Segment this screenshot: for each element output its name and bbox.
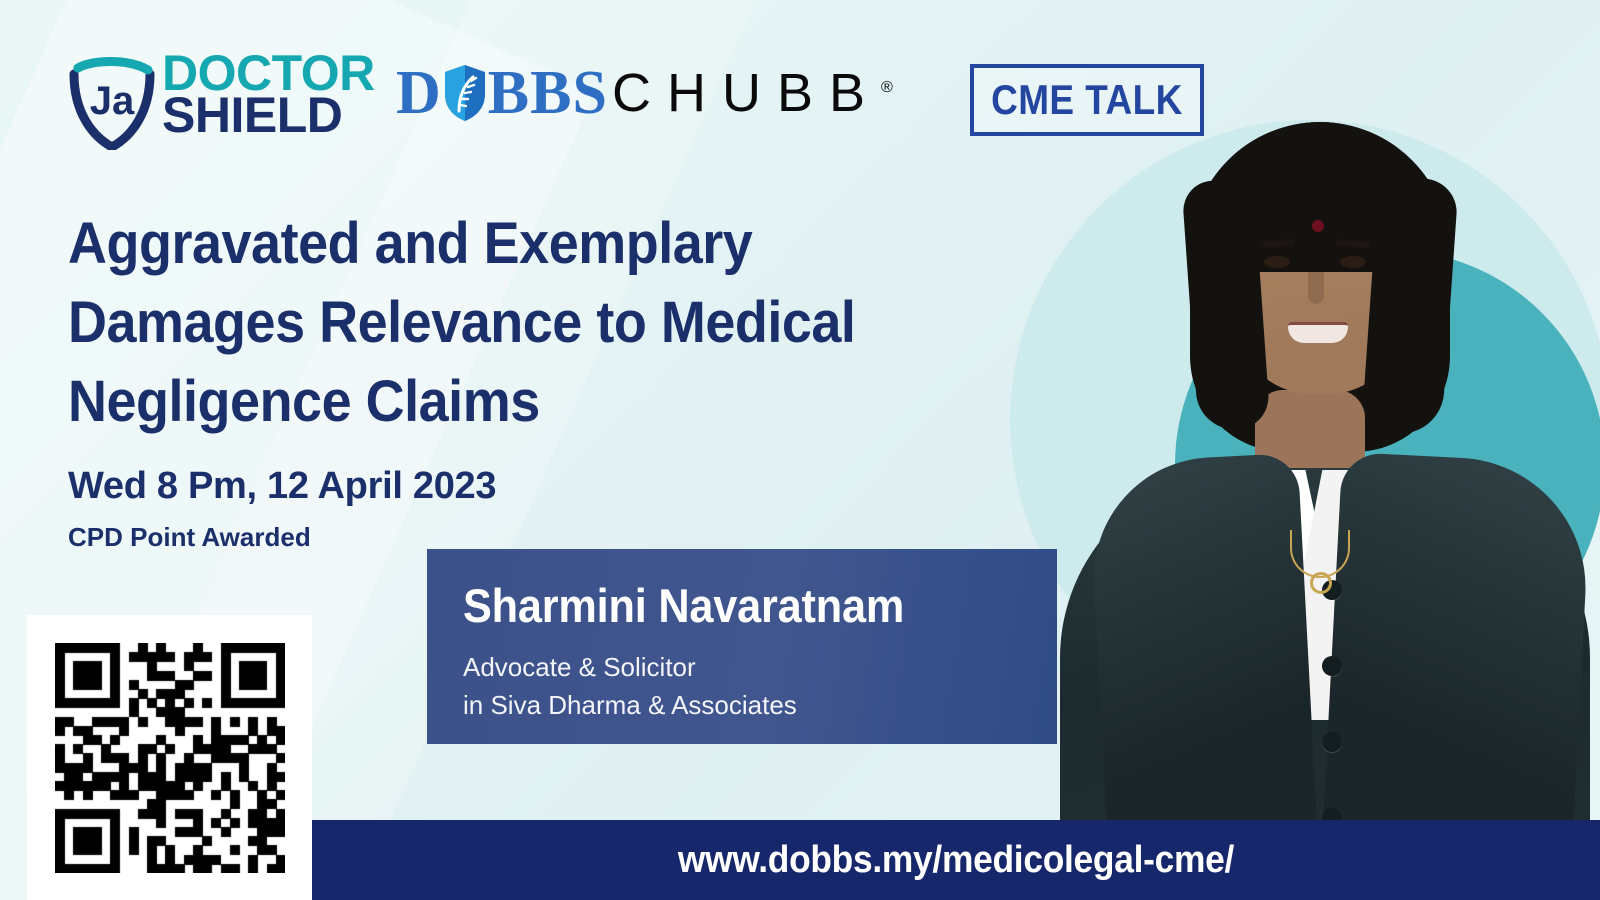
sponsor-logo-row: Ja DOCTOR SHIELD D xyxy=(0,0,1300,165)
speaker-role-line2: in Siva Dharma & Associates xyxy=(463,686,797,724)
doctor-shield-wordmark: DOCTOR SHIELD xyxy=(162,50,375,138)
chubb-trademark: ® xyxy=(881,79,893,96)
registration-url[interactable]: www.dobbs.my/medicolegal-cme/ xyxy=(357,820,1555,900)
speaker-role: Advocate & Solicitor in Siva Dharma & As… xyxy=(463,648,797,725)
svg-text:Ja: Ja xyxy=(90,79,135,123)
event-datetime: Wed 8 Pm, 12 April 2023 xyxy=(68,465,496,508)
promo-banner: Ja DOCTOR SHIELD D xyxy=(0,0,1600,900)
speaker-role-line1: Advocate & Solicitor xyxy=(463,648,797,686)
dobbs-shield-icon xyxy=(443,64,487,122)
cme-talk-label: CME TALK xyxy=(991,76,1183,124)
chubb-logo: CHUBB® xyxy=(612,66,893,120)
speaker-portrait xyxy=(1040,60,1600,900)
dobbs-letter-d: D xyxy=(396,62,442,124)
event-title: Aggravated and Exemplary Damages Relevan… xyxy=(68,205,905,442)
dobbs-letters-bbs: BBS xyxy=(488,62,608,124)
ja-shield-icon: Ja xyxy=(64,52,160,150)
dobbs-logo: D BBS xyxy=(396,58,608,128)
chubb-wordmark: CHUBB xyxy=(612,63,881,123)
cme-talk-badge: CME TALK xyxy=(970,64,1204,136)
registration-qr-code[interactable] xyxy=(55,643,285,873)
cpd-note: CPD Point Awarded xyxy=(68,522,311,553)
speaker-name: Sharmini Navaratnam xyxy=(463,578,904,633)
